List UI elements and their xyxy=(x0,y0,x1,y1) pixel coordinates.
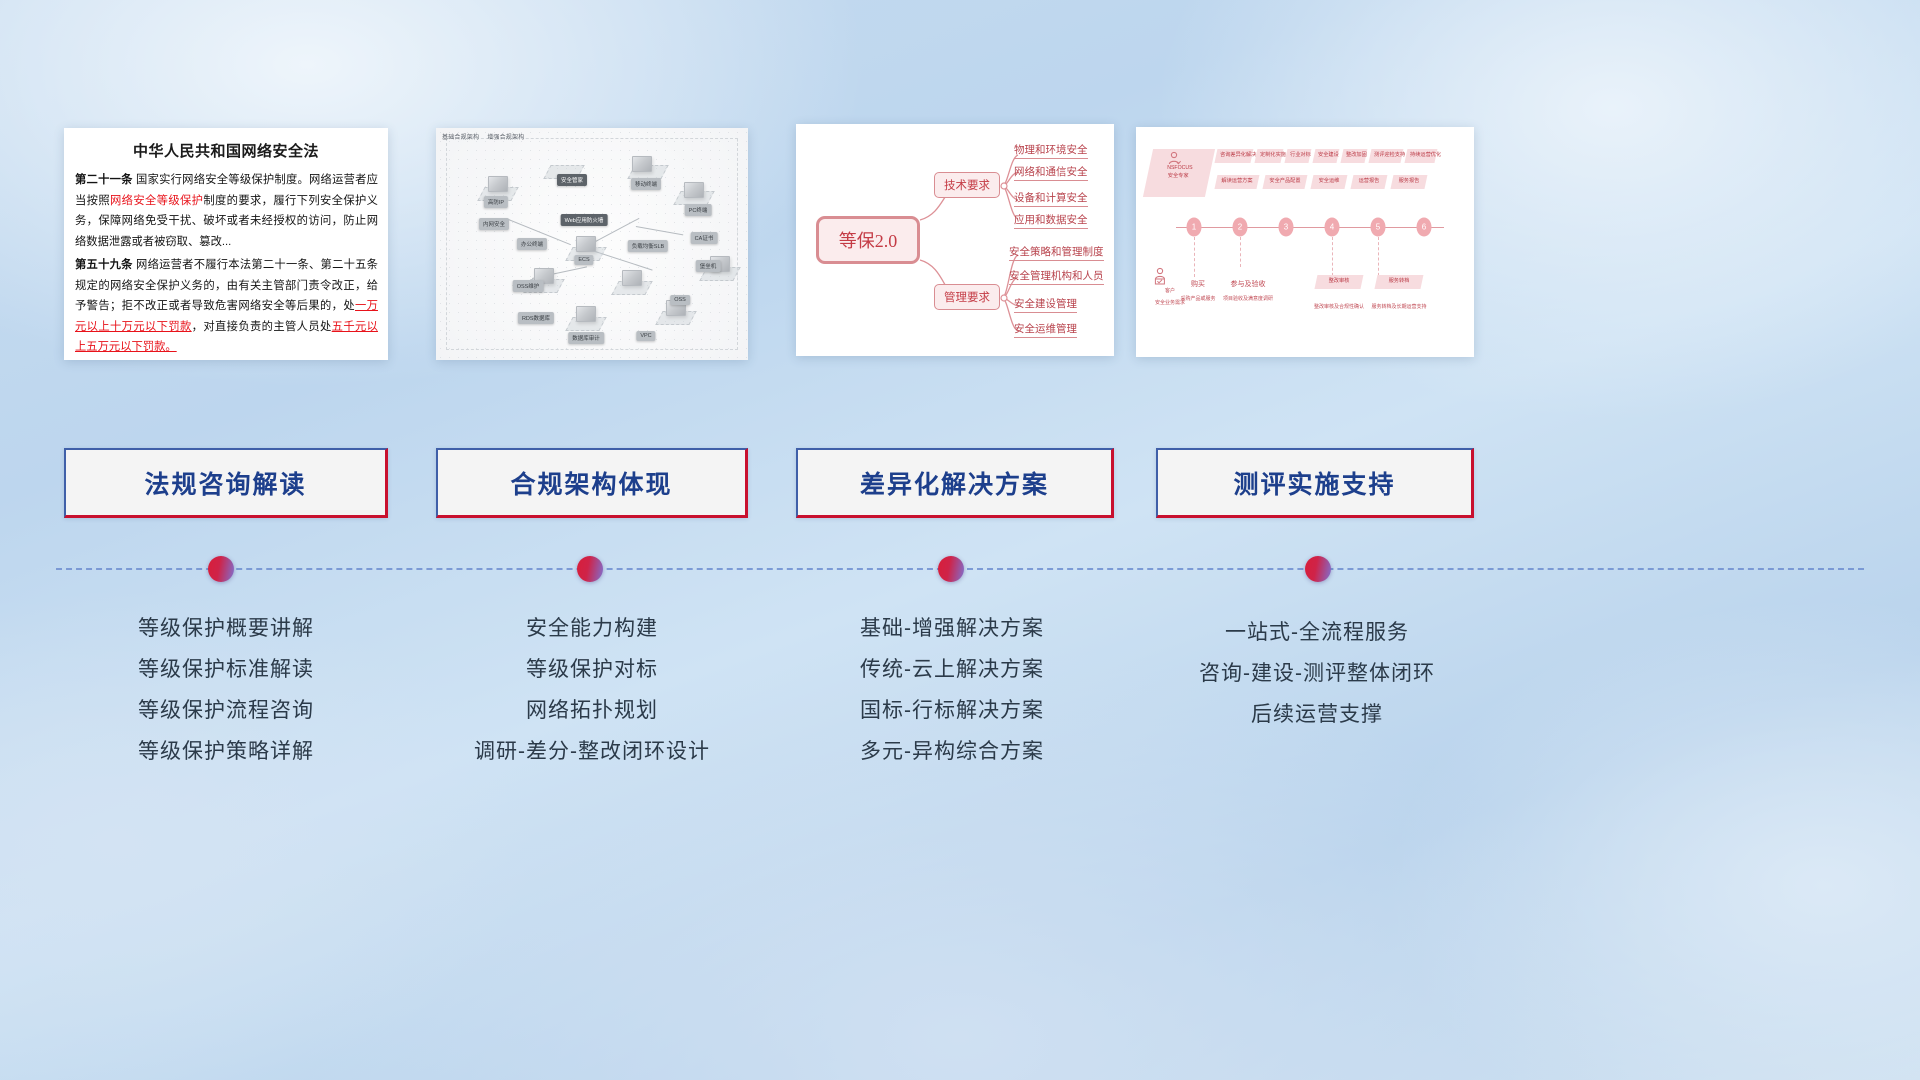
flow-dash-connector xyxy=(1194,237,1195,277)
law-paragraph-59: 第五十九条 网络运营者不履行本法第二十一条、第二十五条规定的网络安全保护义务的，… xyxy=(75,255,378,358)
mindmap-branch-management: 管理要求 xyxy=(934,284,1000,310)
flow-top-tag: 持续运营优化 xyxy=(1405,149,1438,163)
architecture-node-label: RDS数据库 xyxy=(518,312,554,324)
architecture-node-label: 高防IP xyxy=(484,196,508,208)
card-cybersecurity-law: 中华人民共和国网络安全法 第二十一条 国家实行网络安全等级保护制度。网络运营者应… xyxy=(64,128,388,360)
architecture-node-icon xyxy=(576,236,596,252)
timeline-dot[interactable] xyxy=(577,556,603,582)
flow-stage-tag: 安全产品配置 xyxy=(1263,175,1308,189)
bullet-item: 网络拓扑规划 xyxy=(430,690,754,731)
mindmap-leaf: 网络和通信安全 xyxy=(1014,164,1088,181)
bullet-item: 等级保护概要讲解 xyxy=(64,608,388,649)
flow-timeline-line xyxy=(1176,227,1444,228)
bottom-tag-label: 服务转档 xyxy=(1380,278,1418,286)
law-title: 中华人民共和国网络安全法 xyxy=(64,140,388,161)
flow-top-tag-label: 定制化实施 xyxy=(1260,152,1278,160)
flow-top-tag-label: 安全建设 xyxy=(1318,152,1334,160)
flow-stage-tag-label: 安全产品配置 xyxy=(1268,178,1302,186)
pill-regulation-consulting[interactable]: 法规咨询解读 xyxy=(64,448,388,518)
architecture-node-label: CA证书 xyxy=(691,232,718,244)
mindmap-leaf: 安全运维管理 xyxy=(1014,321,1077,338)
flow-top-tag: 定制化实施 xyxy=(1255,149,1284,163)
expert-role: 安全专家 xyxy=(1151,173,1205,181)
tab-basic-architecture[interactable]: 基础合规架构 xyxy=(442,132,479,141)
bullet-item: 传统-云上解决方案 xyxy=(790,649,1114,690)
flow-step-number: 4 xyxy=(1325,218,1340,237)
flow-stage-tag: 安全运维 xyxy=(1311,175,1348,189)
architecture-node-label: PC终端 xyxy=(685,204,712,216)
flow-top-tag: 整改加固 xyxy=(1341,149,1368,163)
bottom-tag-label: 参与及验收 xyxy=(1231,279,1266,289)
bullet-item: 调研-差分-整改闭环设计 xyxy=(430,731,754,772)
architecture-node-icon xyxy=(622,270,642,286)
tab-enhanced-architecture[interactable]: 增强合规架构 xyxy=(487,132,524,141)
flow-step-number: 2 xyxy=(1233,218,1248,237)
bullet-column-evaluation: 一站式-全流程服务 咨询-建设-测评整体闭环 后续运营支撑 xyxy=(1152,612,1482,735)
mindmap-leaf: 设备和计算安全 xyxy=(1014,190,1088,207)
bottom-tag: 服务转档 xyxy=(1375,275,1424,289)
law-paragraph-21: 第二十一条 国家实行网络安全等级保护制度。网络运营者应当按照网络安全等级保护制度… xyxy=(75,170,378,252)
mindmap-leaf: 安全管理机构和人员 xyxy=(1009,268,1104,285)
architecture-node-label: Web应用防火墙 xyxy=(561,214,608,226)
slide-canvas: 中华人民共和国网络安全法 第二十一条 国家实行网络安全等级保护制度。网络运营者应… xyxy=(0,0,1920,1080)
architecture-node-icon xyxy=(488,176,508,192)
card-compliance-architecture: 基础合规架构 增强合规架构 xyxy=(436,128,748,360)
mindmap-leaf: 物理和环境安全 xyxy=(1014,142,1088,159)
timeline-dot[interactable] xyxy=(208,556,234,582)
flow-canvas: NSFOCUS 安全专家 咨询差异化解决方案 定制化实施 行业对标 安全建设 整… xyxy=(1136,127,1474,357)
flow-stage-tag-label: 解读运营方案 xyxy=(1220,178,1254,186)
bottom-tag-sublabel: 服务转档及长期运营支持 xyxy=(1371,303,1426,310)
law-text-segment: ，对直接负责的主管人员处 xyxy=(192,321,332,333)
flow-top-tag: 行业对标 xyxy=(1285,149,1312,163)
bottom-tag-sublabel: 采购产品或服务 xyxy=(1180,295,1215,302)
architecture-node-label: OSS xyxy=(670,295,690,305)
law-article-number: 第五十九条 xyxy=(75,259,133,271)
architecture-node-label: 内网安全 xyxy=(479,218,509,230)
architecture-node-label: 负载均衡SLB xyxy=(628,240,668,252)
flow-stage-tag-label: 安全运维 xyxy=(1316,178,1342,186)
flow-step-number: 1 xyxy=(1187,218,1202,237)
mindmap-leaf: 应用和数据安全 xyxy=(1014,212,1088,229)
architecture-node-label: ECS xyxy=(574,255,593,265)
expert-person-icon xyxy=(1166,151,1182,167)
flow-top-tag-label: 整改加固 xyxy=(1346,152,1362,160)
architecture-canvas: 基础合规架构 增强合规架构 xyxy=(436,128,748,360)
pill-label: 合规架构体现 xyxy=(510,465,672,501)
bottom-tag-sublabel: 项目验收及满意度调研 xyxy=(1223,295,1273,302)
customer-person-icon xyxy=(1152,267,1168,285)
bullet-item: 一站式-全流程服务 xyxy=(1152,612,1482,653)
architecture-node-label: 数据库审计 xyxy=(568,332,604,344)
flow-top-tag: 测评迎检支持 xyxy=(1369,149,1404,163)
bottom-tag-sublabel: 整改审核及合规性确认 xyxy=(1314,303,1364,310)
flow-top-tag-label: 测评迎检支持 xyxy=(1374,152,1398,160)
pill-label: 法规咨询解读 xyxy=(144,465,306,501)
flow-top-tag-label: 行业对标 xyxy=(1290,152,1306,160)
flow-stage-tag-label: 运营报告 xyxy=(1356,178,1382,186)
bullet-item: 多元-异构综合方案 xyxy=(790,731,1114,772)
bullet-column-regulation: 等级保护概要讲解 等级保护标准解读 等级保护流程咨询 等级保护策略详解 xyxy=(64,608,388,772)
flow-top-tag-label: 咨询差异化解决方案 xyxy=(1220,152,1248,160)
architecture-node-label: 堡垒机 xyxy=(696,260,721,272)
flow-stage-tag-label: 服务报告 xyxy=(1396,178,1422,186)
bullet-item: 后续运营支撑 xyxy=(1152,694,1482,735)
pill-differentiated-solution[interactable]: 差异化解决方案 xyxy=(796,448,1114,518)
customer-label: 客户 xyxy=(1165,287,1175,294)
flow-top-tag: 咨询差异化解决方案 xyxy=(1215,149,1254,163)
card-service-flow: NSFOCUS 安全专家 咨询差异化解决方案 定制化实施 行业对标 安全建设 整… xyxy=(1136,127,1474,357)
architecture-node-label: 办公终端 xyxy=(517,238,547,250)
bullet-column-architecture: 安全能力构建 等级保护对标 网络拓扑规划 调研-差分-整改闭环设计 xyxy=(430,608,754,772)
bullet-item: 等级保护流程咨询 xyxy=(64,690,388,731)
flow-step-number: 5 xyxy=(1371,218,1386,237)
bottom-tag-label: 整改审核 xyxy=(1320,278,1358,286)
pill-evaluation-support[interactable]: 测评实施支持 xyxy=(1156,448,1474,518)
bullet-item: 基础-增强解决方案 xyxy=(790,608,1114,649)
flow-top-tag: 安全建设 xyxy=(1313,149,1340,163)
architecture-node-label: 移动终端 xyxy=(631,178,661,190)
law-article-number: 第二十一条 xyxy=(75,174,133,186)
mindmap-leaf: 安全策略和管理制度 xyxy=(1009,244,1104,261)
bottom-tag: 整改审核 xyxy=(1315,275,1364,289)
architecture-node-label: OSS维护 xyxy=(513,280,544,292)
timeline-dot[interactable] xyxy=(1305,556,1331,582)
bullet-item: 国标-行标解决方案 xyxy=(790,690,1114,731)
bullet-column-solution: 基础-增强解决方案 传统-云上解决方案 国标-行标解决方案 多元-异构综合方案 xyxy=(790,608,1114,772)
architecture-node-icon xyxy=(632,156,652,172)
flow-step-number: 3 xyxy=(1279,218,1294,237)
law-highlight-segment: 网络安全等级保护 xyxy=(110,195,203,207)
architecture-node-label: VPC xyxy=(636,331,655,341)
flow-stage-tag: 服务报告 xyxy=(1391,175,1428,189)
flow-stage-tag: 运营报告 xyxy=(1351,175,1388,189)
mindmap-center-node: 等保2.0 xyxy=(816,216,920,264)
architecture-tabs: 基础合规架构 增强合规架构 xyxy=(442,132,524,141)
card-mindmap-dengbao: 等保2.0 技术要求 管理要求 物理和环境安全 网络和通信安全 设备和计算安全 … xyxy=(796,124,1114,356)
flow-stage-tag: 解读运营方案 xyxy=(1215,175,1260,189)
architecture-node-icon xyxy=(576,306,596,322)
mindmap-canvas: 等保2.0 技术要求 管理要求 物理和环境安全 网络和通信安全 设备和计算安全 … xyxy=(796,124,1114,356)
pill-label: 差异化解决方案 xyxy=(860,465,1049,501)
pill-compliance-architecture[interactable]: 合规架构体现 xyxy=(436,448,748,518)
bullet-item: 等级保护标准解读 xyxy=(64,649,388,690)
flow-step-number: 6 xyxy=(1417,218,1432,237)
mindmap-branch-technical: 技术要求 xyxy=(934,172,1000,198)
architecture-node-label: 安全管家 xyxy=(557,174,587,186)
architecture-node-icon xyxy=(684,182,704,198)
bullet-item: 咨询-建设-测评整体闭环 xyxy=(1152,653,1482,694)
bottom-tag-label: 购买 xyxy=(1191,279,1205,289)
bullet-item: 等级保护对标 xyxy=(430,649,754,690)
pill-label: 测评实施支持 xyxy=(1233,465,1395,501)
mindmap-leaf: 安全建设管理 xyxy=(1014,296,1077,313)
law-body: 第二十一条 国家实行网络安全等级保护制度。网络运营者应当按照网络安全等级保护制度… xyxy=(64,170,388,358)
flow-top-tag-label: 持续运营优化 xyxy=(1410,152,1432,160)
bullet-item: 安全能力构建 xyxy=(430,608,754,649)
bullet-item: 等级保护策略详解 xyxy=(64,731,388,772)
flow-dash-connector xyxy=(1240,237,1241,267)
timeline-dot[interactable] xyxy=(938,556,964,582)
